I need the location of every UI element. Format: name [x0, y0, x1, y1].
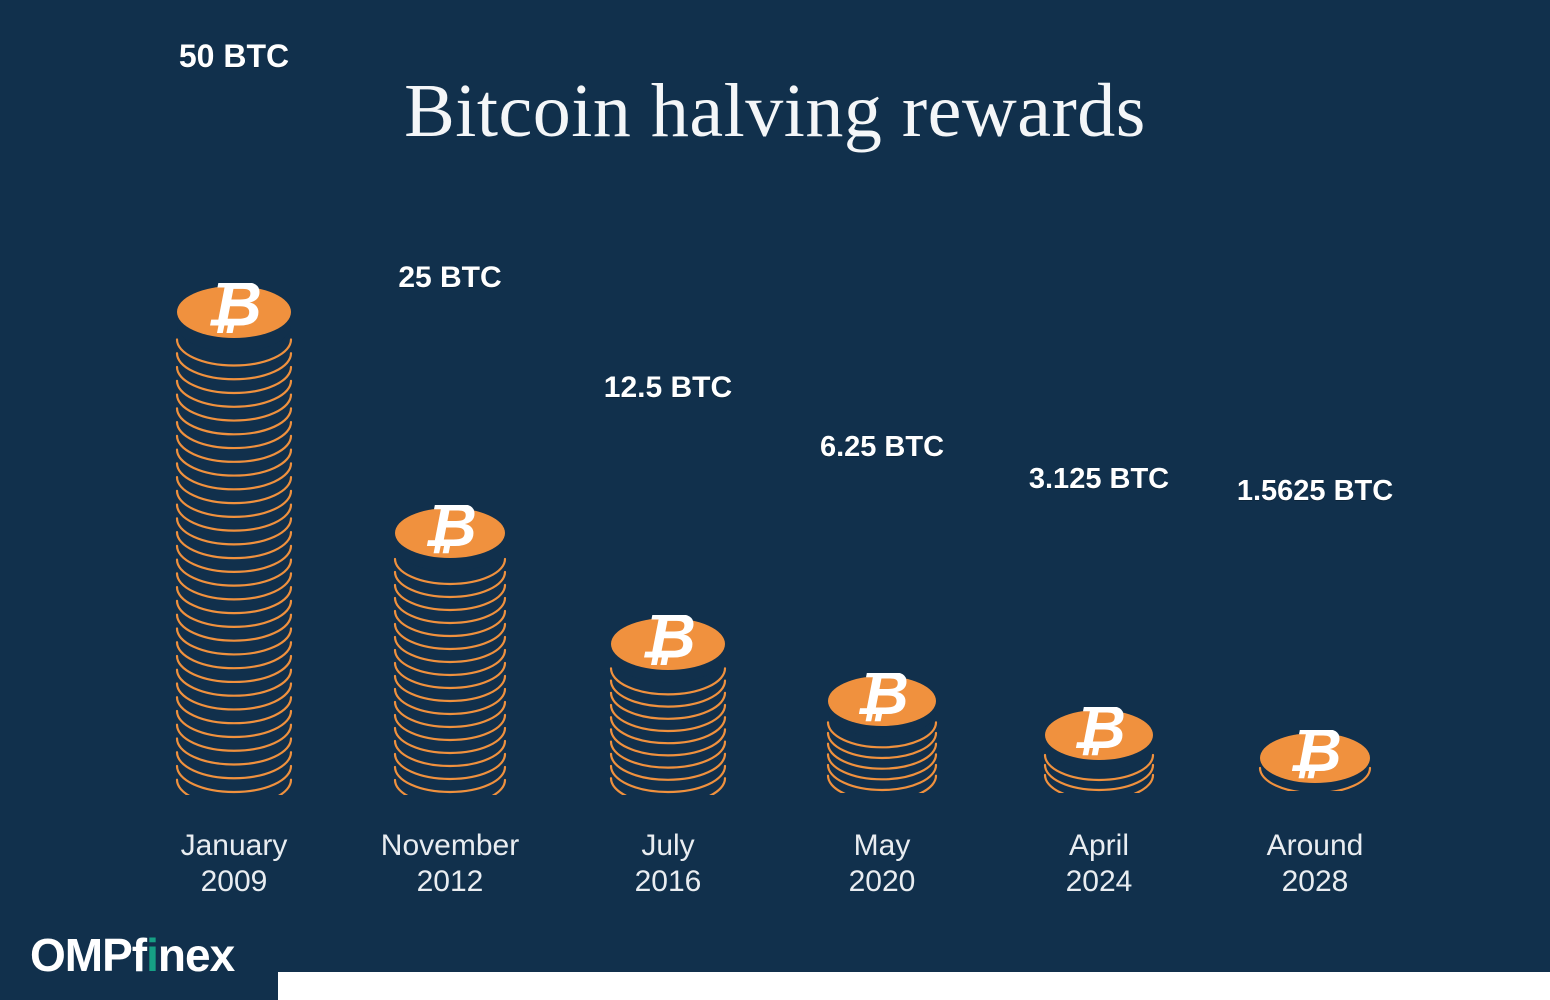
coin-stack-graphic: ₿ [825, 673, 939, 793]
logo-text-omp: OMP [30, 929, 132, 981]
bar-value-label: 50 BTC [134, 38, 334, 75]
coin-stack: 50 BTC₿ [174, 81, 294, 795]
axis-tick-label: Around2028 [1185, 828, 1445, 900]
logo-text-f: f [132, 929, 146, 981]
coin-stack: 6.25 BTC₿ [825, 469, 939, 793]
coin-stack-graphic: ₿ [1042, 707, 1156, 793]
bitcoin-symbol-icon: ₿ [423, 505, 477, 559]
coin-stack: 3.125 BTC₿ [1042, 503, 1156, 793]
axis-tick-year: 2028 [1185, 864, 1445, 900]
axis-tick-month: Around [1185, 828, 1445, 864]
bitcoin-symbol-icon: ₿ [640, 615, 696, 672]
brand-logo[interactable]: OMPfinex [30, 930, 234, 980]
coin-stack-graphic: ₿ [608, 615, 728, 795]
coin-stack: 12.5 BTC₿ [608, 413, 728, 795]
bar-value-label: 6.25 BTC [785, 431, 979, 464]
coin-stack-graphic: ₿ [174, 283, 294, 795]
coin-stack-graphic: ₿ [1257, 730, 1373, 791]
bitcoin-symbol-icon: ₿ [1288, 730, 1342, 784]
bottom-white-band [278, 972, 1550, 1000]
bar-value-label: 12.5 BTC [568, 371, 768, 405]
infographic-canvas: Bitcoin halving rewards 50 BTC₿January20… [0, 0, 1550, 1000]
bitcoin-symbol-icon: ₿ [1072, 707, 1126, 761]
logo-text-i-accent: i [146, 929, 158, 981]
bar-value-label: 1.5625 BTC [1217, 475, 1413, 508]
bar-value-label: 25 BTC [352, 261, 548, 295]
bitcoin-halving-bar-chart: 50 BTC₿January200925 BTC₿November201212.… [0, 0, 1550, 1000]
bitcoin-symbol-icon: ₿ [855, 673, 909, 727]
bitcoin-symbol-icon: ₿ [206, 283, 262, 340]
coin-stack: 1.5625 BTC₿ [1257, 524, 1373, 791]
bar-value-label: 3.125 BTC [1002, 463, 1196, 496]
logo-text-nex: nex [158, 929, 234, 981]
coin-stack: 25 BTC₿ [392, 303, 508, 795]
coin-stack-graphic: ₿ [392, 505, 508, 795]
